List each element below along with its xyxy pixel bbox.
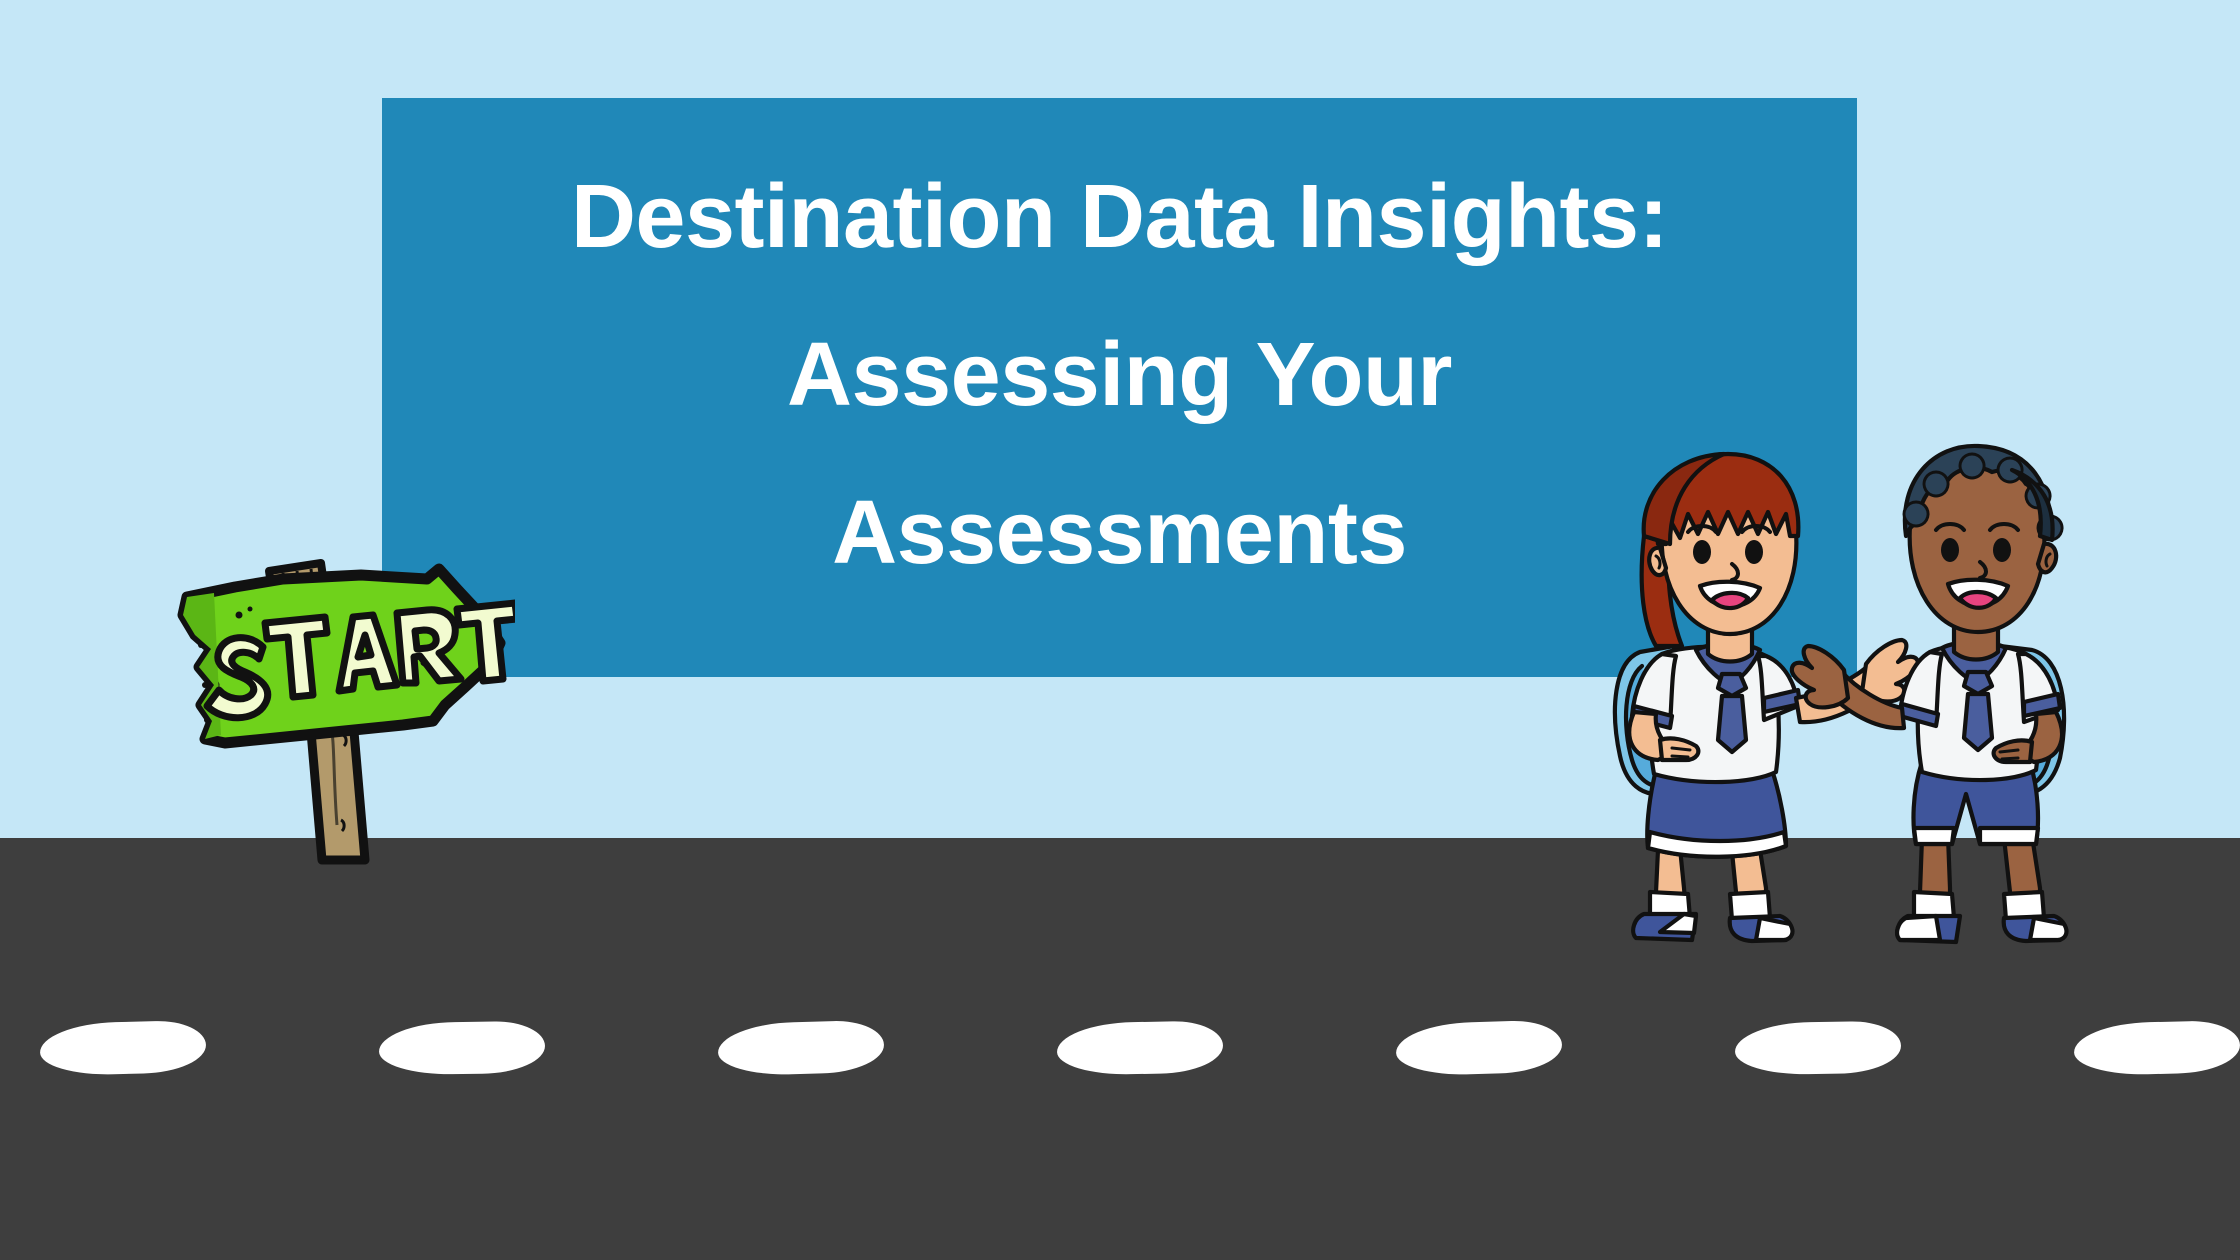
students-illustration xyxy=(1600,440,2110,950)
slide-canvas: Destination Data Insights: Assessing You… xyxy=(0,0,2240,1260)
start-signpost xyxy=(165,535,515,865)
boy-student xyxy=(1792,446,2067,942)
road-dash xyxy=(379,1021,546,1075)
